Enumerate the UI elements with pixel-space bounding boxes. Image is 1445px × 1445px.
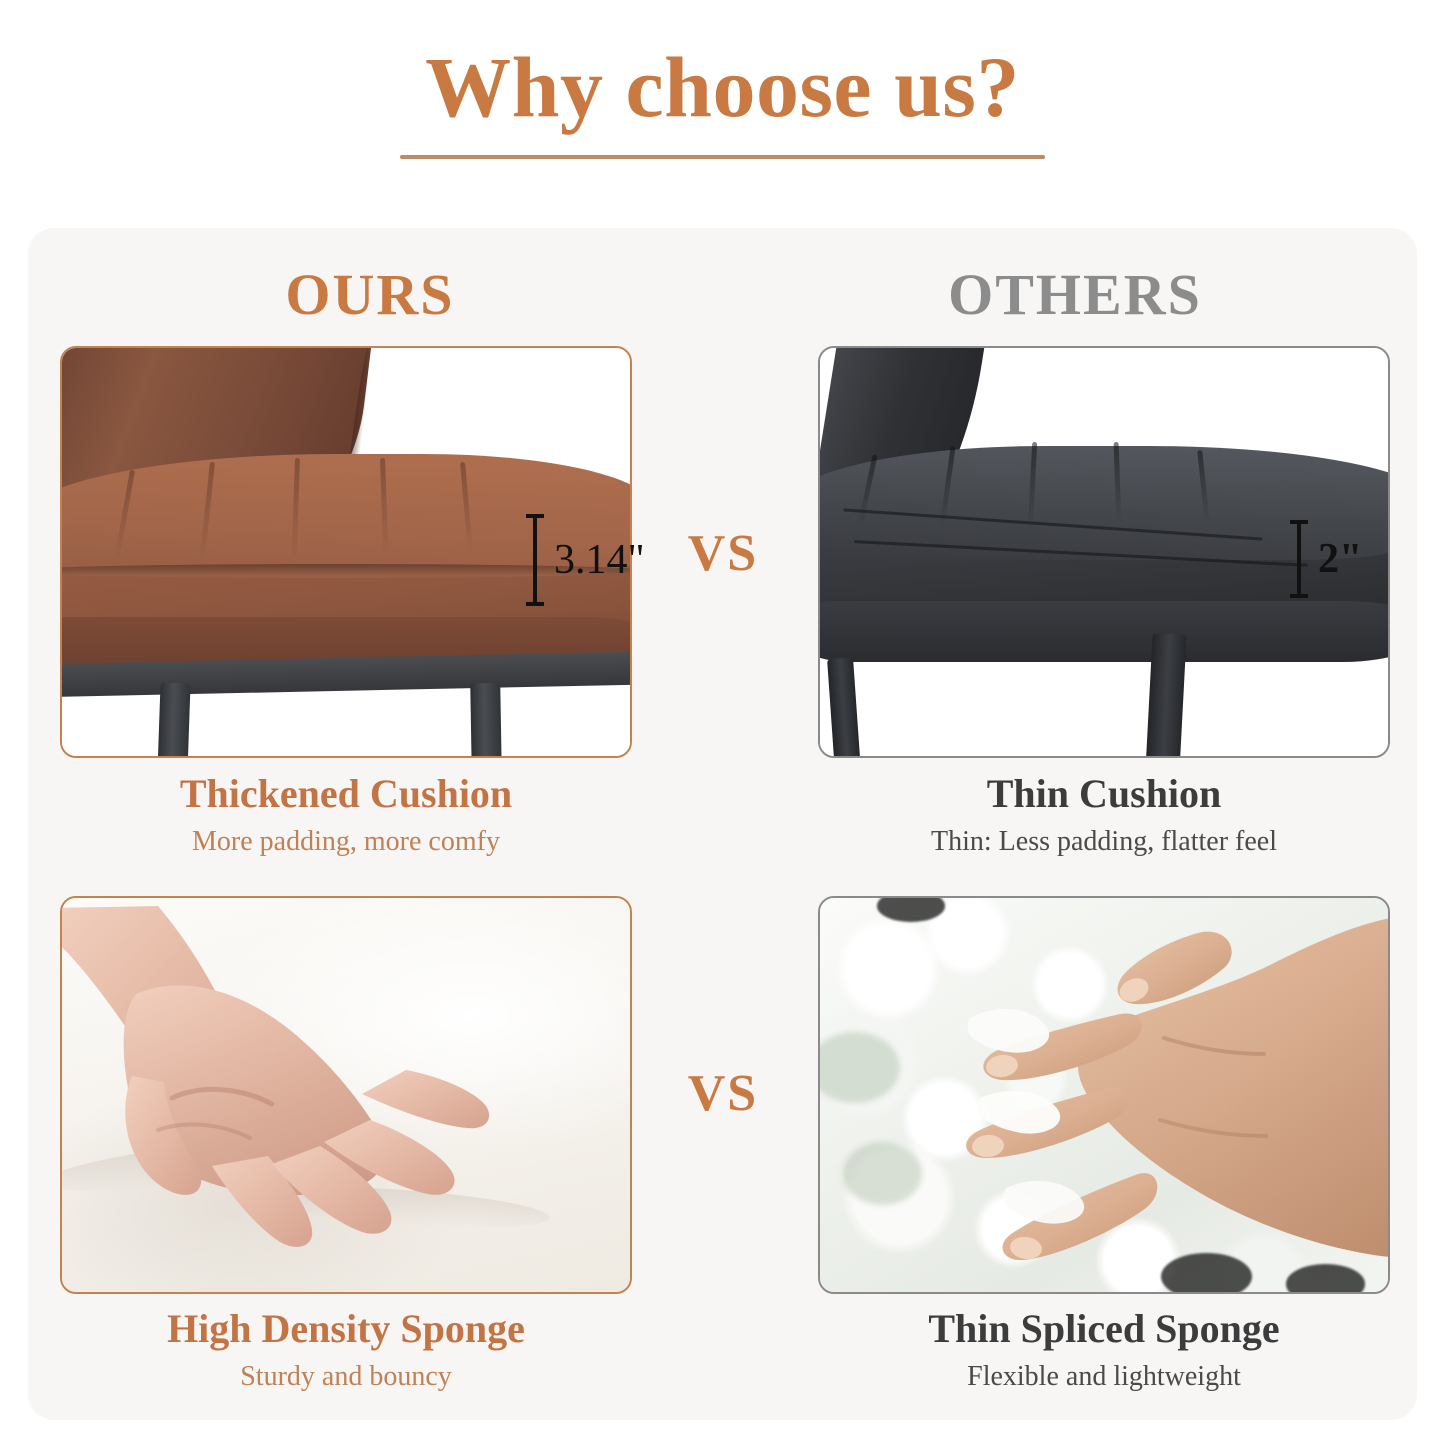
hand-in-fiberfill <box>820 898 1388 1292</box>
image-others-thin-spliced-sponge <box>818 896 1390 1294</box>
caption-subtitle: Sturdy and bouncy <box>46 1360 646 1394</box>
dimension-indicator-ours: 3.14" <box>526 514 645 606</box>
dimension-indicator-others: 2" <box>1290 520 1362 598</box>
seat-apron-dark <box>820 601 1388 662</box>
column-header-others: OTHERS <box>785 266 1365 324</box>
infographic-page: Why choose us? OURS OTHERS <box>0 0 1445 1445</box>
dimension-stem <box>533 514 537 606</box>
ours-sponge-photo <box>62 898 630 1292</box>
vs-label-row-1: VS <box>653 528 793 580</box>
caption-others-row-2: Thin Spliced Sponge Flexible and lightwe… <box>804 1306 1404 1394</box>
caption-title: High Density Sponge <box>46 1306 646 1352</box>
column-header-ours: OURS <box>80 266 660 324</box>
caption-title: Thin Spliced Sponge <box>804 1306 1404 1352</box>
dimension-value-ours: 3.14" <box>554 539 645 581</box>
comparison-panel: OURS OTHERS <box>28 228 1417 1420</box>
caption-subtitle: Flexible and lightweight <box>804 1360 1404 1394</box>
others-sponge-photo <box>820 898 1388 1292</box>
vs-label-row-2: VS <box>653 1068 793 1120</box>
caption-title: Thin Cushion <box>804 771 1404 817</box>
page-title: Why choose us? <box>0 42 1445 132</box>
caption-ours-row-2: High Density Sponge Sturdy and bouncy <box>46 1306 646 1394</box>
dimension-value-others: 2" <box>1318 538 1362 580</box>
caption-others-row-1: Thin Cushion Thin: Less padding, flatter… <box>804 771 1404 859</box>
dimension-stem <box>1297 520 1301 598</box>
dimension-line <box>526 514 544 606</box>
chair-leg <box>157 682 190 756</box>
header-block: Why choose us? <box>0 42 1445 159</box>
caption-title: Thickened Cushion <box>46 771 646 817</box>
image-ours-high-density-sponge <box>60 896 632 1294</box>
caption-subtitle: More padding, more comfy <box>46 825 646 859</box>
chair-leg <box>470 682 502 756</box>
chair-leg-dark <box>827 657 861 756</box>
caption-ours-row-1: Thickened Cushion More padding, more com… <box>46 771 646 859</box>
chair-leg-dark <box>1146 633 1187 756</box>
hand-pressing-foam <box>62 898 630 1292</box>
dimension-line <box>1290 520 1308 598</box>
caption-subtitle: Thin: Less padding, flatter feel <box>804 825 1404 859</box>
title-divider <box>400 155 1045 159</box>
